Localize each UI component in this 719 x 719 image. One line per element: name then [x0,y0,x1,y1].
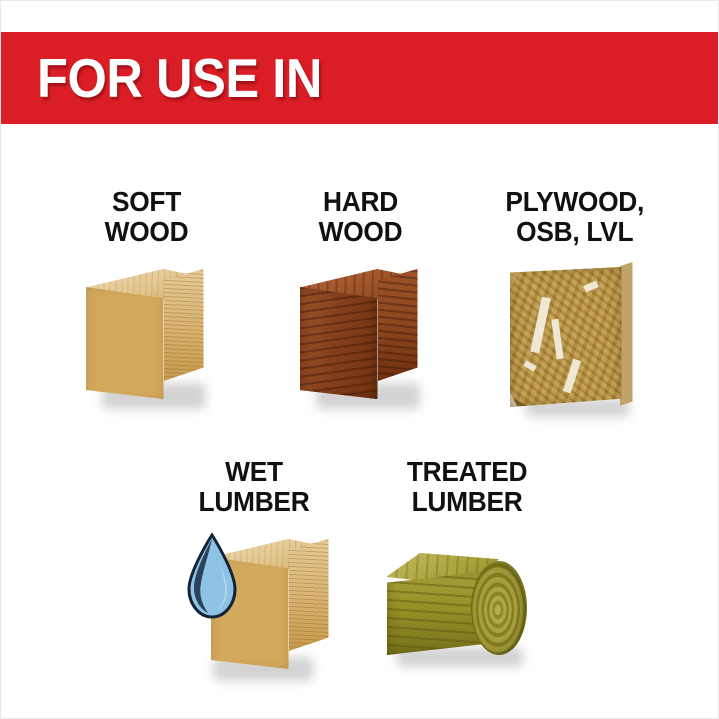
material-label-soft-wood: SOFT WOOD [105,187,189,247]
label-line-2: LUMBER [198,487,309,517]
label-line-2: LUMBER [407,487,527,517]
block-side-face [164,269,204,381]
material-label-treated-lumber: TREATED LUMBER [407,457,527,517]
material-item-hard-wood: HARD WOOD [254,187,468,426]
strand-chip [551,319,563,360]
label-line-1: WET [198,457,309,487]
material-art-soft-wood [72,261,222,426]
label-line-2: WOOD [319,217,403,247]
material-item-wet-lumber: WET LUMBER [147,457,361,696]
material-art-wet-lumber [179,531,329,696]
material-label-plywood-osb-lvl: PLYWOOD, OSB, LVL [505,187,644,247]
strand-chip [583,281,599,293]
material-art-treated-lumber [383,531,553,696]
label-line-1: TREATED [407,457,527,487]
block-side-face [378,269,418,381]
label-line-2: WOOD [105,217,189,247]
material-item-plywood-osb-lvl: PLYWOOD, OSB, LVL [468,187,682,426]
block-front-face [86,287,164,399]
page-title: FOR USE IN [37,51,322,106]
infographic-canvas: FOR USE IN SOFT WOOD HARD WOOD [0,0,719,719]
header-banner: FOR USE IN [1,32,719,124]
water-droplet-icon [181,533,243,623]
label-line-1: HARD [319,187,403,217]
strand-chip [530,297,550,354]
material-art-osb-panel [500,261,650,426]
label-line-2: OSB, LVL [505,217,644,247]
panel-front-face [510,267,622,407]
block-side-face [289,539,329,651]
label-line-1: SOFT [105,187,189,217]
material-item-soft-wood: SOFT WOOD [40,187,254,426]
material-row-1: SOFT WOOD HARD WOOD [1,187,719,426]
material-art-hard-wood [286,261,436,426]
block-front-face [300,287,378,399]
material-label-hard-wood: HARD WOOD [319,187,403,247]
strand-chip [562,359,580,394]
label-line-1: PLYWOOD, [505,187,644,217]
log-end-grain-rings [471,561,527,655]
strand-chip [523,360,536,371]
material-row-2: WET LUMBER TREATED LU [1,457,719,696]
material-item-treated-lumber: TREATED LUMBER [361,457,575,696]
material-label-wet-lumber: WET LUMBER [198,457,309,517]
